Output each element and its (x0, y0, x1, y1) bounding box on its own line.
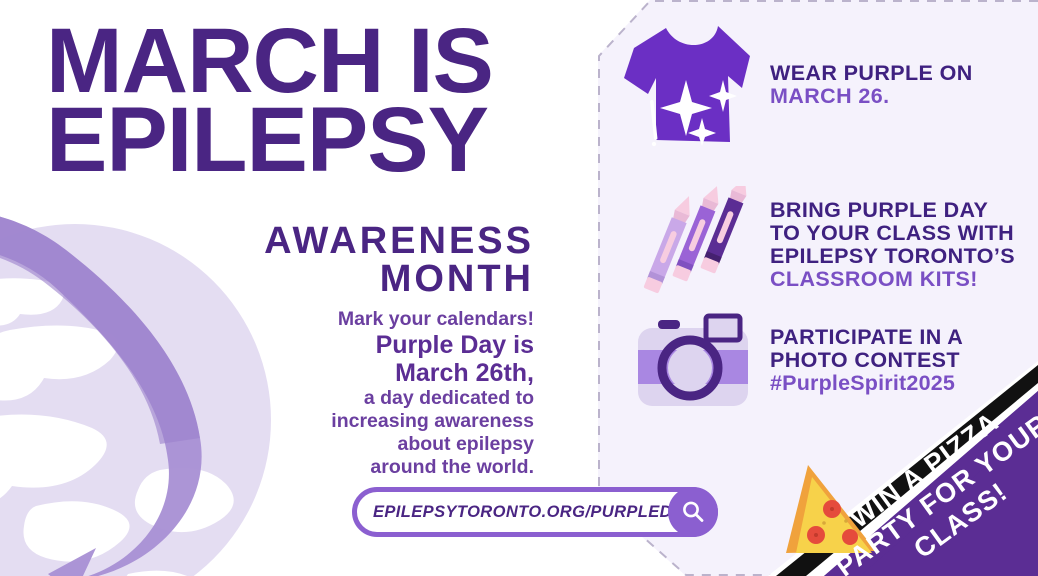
photo-contest-line-1: PARTICIPATE IN A (770, 325, 963, 349)
classroom-kits-line-2: TO YOUR CLASS WITH (770, 222, 1015, 245)
magnifier-icon (680, 499, 706, 525)
photo-contest-line-2: PHOTO CONTEST (770, 349, 963, 372)
body-emphasis-line-2: March 26th, (240, 359, 534, 387)
action-items: WEAR PURPLE ON MARCH 26. (612, 0, 1038, 430)
subheading-line-1: AWARENESS (264, 220, 534, 262)
tshirt-icon (622, 22, 752, 147)
url-text: EPILEPSYTORONTO.ORG/PURPLEDAY (357, 503, 713, 522)
wear-purple-line-1: WEAR PURPLE ON (770, 61, 973, 85)
subheading-line-2: MONTH (46, 260, 534, 298)
search-button[interactable] (668, 487, 718, 537)
action-text-wear-purple: WEAR PURPLE ON MARCH 26. (770, 62, 973, 108)
body-detail-line-1: a day dedicated to (240, 387, 534, 410)
classroom-kits-line-3: EPILEPSY TORONTO’S (770, 245, 1015, 268)
body-lead: Mark your calendars! (240, 308, 534, 331)
photo-contest-hashtag: #PurpleSpirit2025 (770, 372, 963, 395)
url-bar[interactable]: EPILEPSYTORONTO.ORG/PURPLEDAY (352, 487, 718, 537)
body-detail-line-4: around the world. (240, 456, 534, 479)
page-title: MARCH IS EPILEPSY (46, 22, 566, 180)
action-text-photo-contest: PARTICIPATE IN A PHOTO CONTEST #PurpleSp… (770, 326, 963, 395)
classroom-kits-accent: CLASSROOM KITS! (770, 268, 1015, 291)
pencils-icon (634, 186, 752, 304)
body-detail-line-3: about epilepsy (240, 433, 534, 456)
classroom-kits-line-1: BRING PURPLE DAY (770, 198, 988, 222)
headline-line-2: EPILEPSY (46, 101, 566, 180)
wear-purple-accent: MARCH 26. (770, 85, 973, 108)
body-detail-line-2: increasing awareness (240, 410, 534, 433)
body-copy: Mark your calendars! Purple Day is March… (240, 308, 534, 479)
action-item-wear-purple[interactable]: WEAR PURPLE ON MARCH 26. (622, 22, 973, 147)
purple-day-poster: MARCH IS EPILEPSY AWARENESS MONTH Mark y… (0, 0, 1038, 576)
action-item-classroom-kits[interactable]: BRING PURPLE DAY TO YOUR CLASS WITH EPIL… (634, 186, 1015, 304)
body-emphasis-line-1: Purple Day is (240, 331, 534, 359)
subheading: AWARENESS MONTH (46, 222, 534, 298)
action-text-classroom-kits: BRING PURPLE DAY TO YOUR CLASS WITH EPIL… (770, 199, 1015, 291)
action-item-photo-contest[interactable]: PARTICIPATE IN A PHOTO CONTEST #PurpleSp… (634, 310, 963, 410)
camera-icon (634, 310, 752, 410)
